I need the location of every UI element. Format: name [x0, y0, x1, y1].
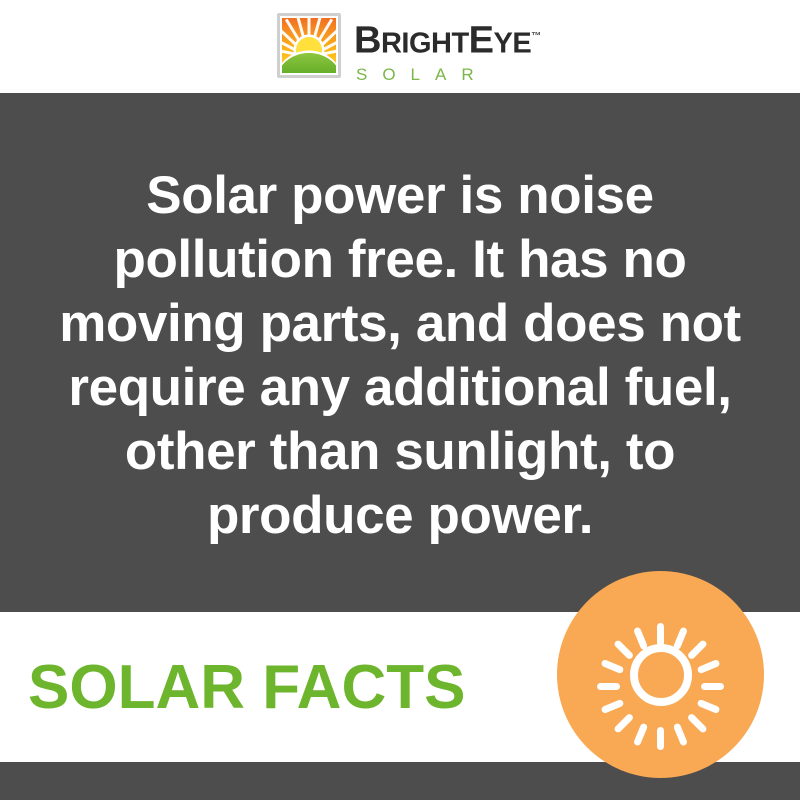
sun-ray [600, 698, 624, 713]
sun-ray [657, 623, 664, 646]
brand-logo[interactable]: BRIGHTEYE™ SOLAR [277, 13, 541, 85]
sun-ring [630, 644, 692, 706]
sun-ray [673, 626, 688, 650]
header: BRIGHTEYE™ SOLAR [0, 0, 800, 93]
fact-panel: Solar power is noise pollution free. It … [0, 93, 800, 612]
solar-facts-graphic: BRIGHTEYE™ SOLAR Solar power is noise po… [0, 0, 800, 800]
sun-ray [697, 658, 721, 673]
fact-text: Solar power is noise pollution free. It … [50, 164, 750, 548]
logo-brand-name: BRIGHTEYE™ [354, 17, 541, 64]
sun-ray [613, 712, 634, 733]
sun-ray [633, 722, 648, 746]
sun-ray [687, 712, 708, 733]
sun-ray [701, 683, 724, 690]
sun-ray [657, 727, 664, 750]
logo-brand-b: B [354, 20, 381, 62]
sun-ray [600, 658, 624, 673]
band-title: SOLAR FACTS [28, 612, 548, 762]
sun-ray [697, 698, 721, 713]
logo-wordmark: BRIGHTEYE™ SOLAR [354, 13, 541, 85]
trademark-symbol: ™ [531, 31, 541, 42]
sun-ray [687, 639, 708, 660]
logo-tagline: SOLAR [354, 65, 541, 85]
sun-badge [557, 571, 764, 778]
logo-brand-ye: YE [494, 28, 532, 60]
sun-ray [613, 639, 634, 660]
sun-over-hill-logo-mark [277, 13, 341, 78]
sun-icon [595, 609, 727, 741]
sun-ray [597, 683, 620, 690]
logo-brand-e: E [469, 20, 494, 62]
logo-brand-right: RIGHT [381, 28, 469, 60]
sun-ray [633, 626, 648, 650]
sun-ray [673, 722, 688, 746]
